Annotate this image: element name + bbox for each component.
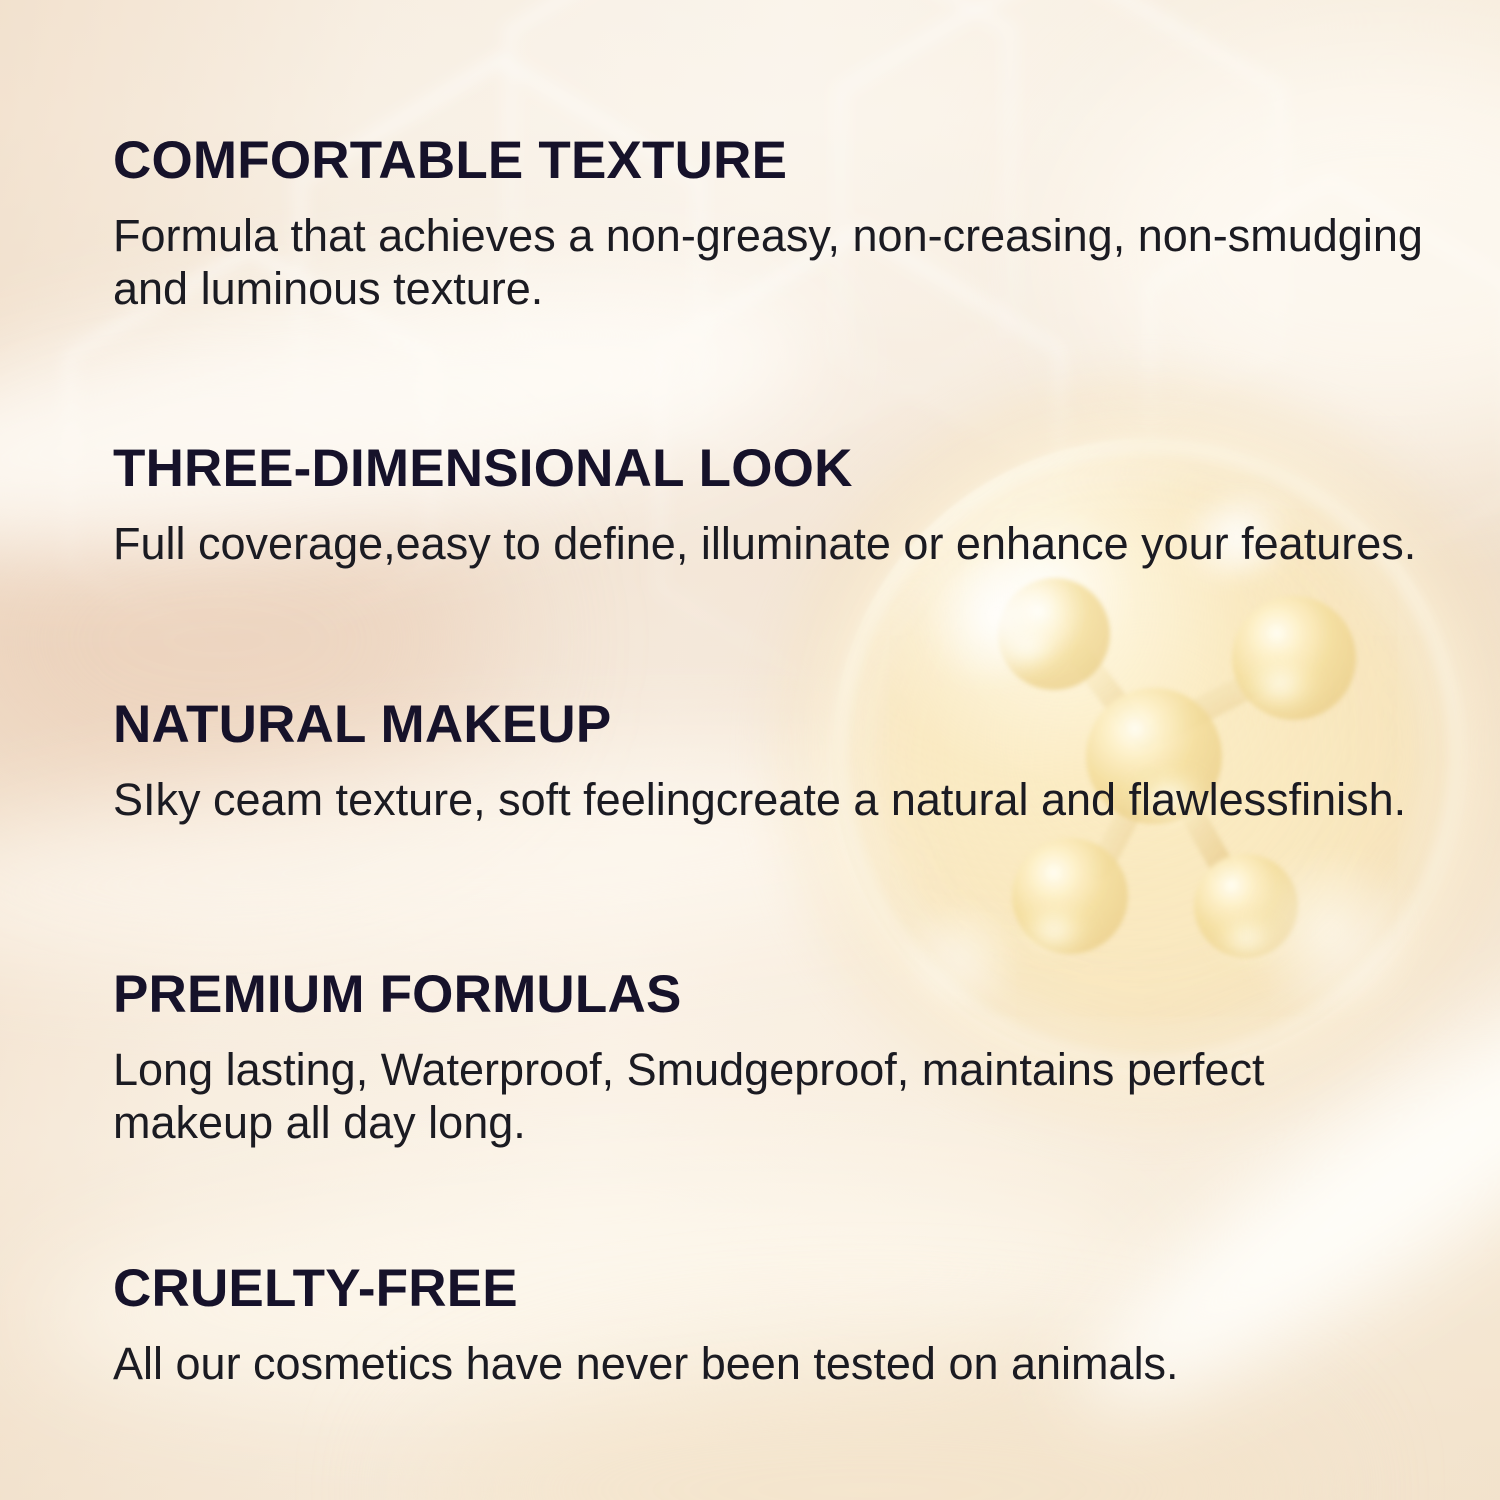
feature-title: PREMIUM FORMULAS bbox=[113, 968, 1423, 1021]
feature-item-cruelty-free: CRUELTY-FREE All our cosmetics have neve… bbox=[113, 1262, 1423, 1390]
spacer bbox=[113, 751, 1423, 773]
feature-title: COMFORTABLE TEXTURE bbox=[113, 134, 1423, 187]
feature-list-page: COMFORTABLE TEXTURE Formula that achieve… bbox=[0, 0, 1500, 1500]
feature-description: Long lasting, Waterproof, Smudgeproof, m… bbox=[113, 1043, 1423, 1149]
feature-item-premium-formulas: PREMIUM FORMULAS Long lasting, Waterproo… bbox=[113, 968, 1423, 1149]
feature-title: THREE-DIMENSIONAL LOOK bbox=[113, 442, 1423, 495]
feature-title: NATURAL MAKEUP bbox=[113, 698, 1423, 751]
feature-title: CRUELTY-FREE bbox=[113, 1262, 1423, 1315]
spacer bbox=[113, 187, 1423, 209]
feature-description: Full coverage,easy to define, illuminate… bbox=[113, 517, 1423, 570]
spacer bbox=[113, 1315, 1423, 1337]
spacer bbox=[113, 495, 1423, 517]
feature-item-comfortable-texture: COMFORTABLE TEXTURE Formula that achieve… bbox=[113, 134, 1423, 315]
feature-item-three-dimensional-look: THREE-DIMENSIONAL LOOK Full coverage,eas… bbox=[113, 442, 1423, 570]
spacer bbox=[113, 1021, 1423, 1043]
feature-description: Formula that achieves a non-greasy, non-… bbox=[113, 209, 1423, 315]
feature-item-natural-makeup: NATURAL MAKEUP SIky ceam texture, soft f… bbox=[113, 698, 1423, 826]
feature-description: SIky ceam texture, soft feelingcreate a … bbox=[113, 773, 1423, 826]
feature-description: All our cosmetics have never been tested… bbox=[113, 1337, 1423, 1390]
feature-list: COMFORTABLE TEXTURE Formula that achieve… bbox=[0, 0, 1500, 1500]
